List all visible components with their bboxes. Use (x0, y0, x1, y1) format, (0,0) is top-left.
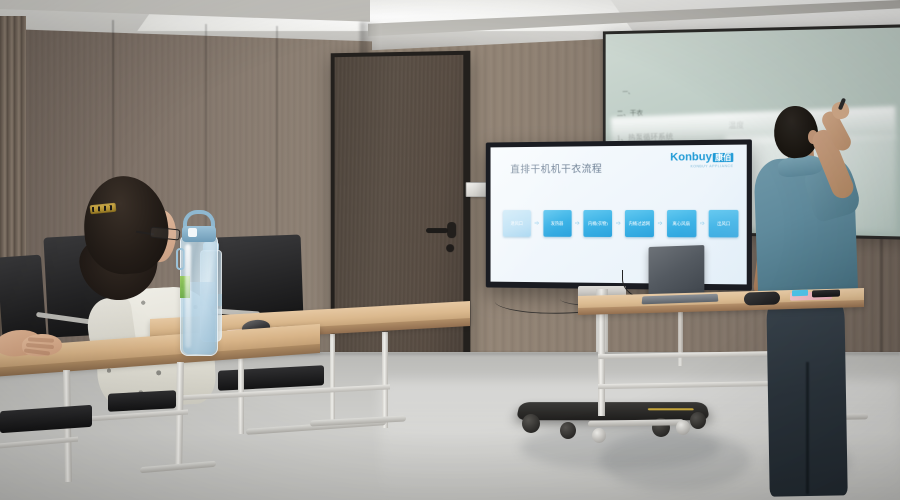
flow-step: 离心风扇 (667, 210, 696, 237)
desk-phone[interactable] (812, 290, 840, 298)
whiteboard-note: 一、 (622, 87, 633, 96)
brand-logo: Konbuy 康佰 KONBUY APPLIANCE (670, 152, 733, 169)
attendee-hands (0, 326, 70, 362)
table-leg (678, 312, 683, 366)
flow-step: 发热器 (543, 210, 571, 237)
door-handle-base (447, 222, 456, 238)
chair-seat[interactable] (108, 390, 176, 412)
presenter-pant-seam (806, 362, 809, 494)
flow-arrow-icon: ➩ (700, 221, 705, 227)
table-leg (598, 310, 605, 416)
desk-object-dark[interactable] (744, 291, 780, 305)
television[interactable]: 直排干机机干衣流程 Konbuy 康佰 KONBUY APPLIANCE 进风口… (486, 139, 752, 290)
flow-step: 内桶过滤网 (625, 210, 654, 237)
door-lock-icon[interactable] (446, 244, 454, 252)
caster-wheel (690, 412, 706, 429)
floor-reflection (600, 430, 750, 490)
caster-wheel (560, 422, 576, 439)
caster-wheel (592, 428, 606, 443)
flow-arrow-icon: ➩ (534, 221, 539, 227)
desk-object-blue[interactable] (792, 290, 808, 297)
process-flow-diagram: 进风口 ➩ 发热器 ➩ 内桶(衣物) ➩ 内桶过滤网 ➩ 离心风扇 ➩ 出风口 (503, 210, 739, 238)
flow-arrow-icon: ➩ (616, 221, 621, 227)
attendee-hair (81, 173, 172, 277)
meeting-room-photo: 一、 二、干衣 1、热泵循环系统 2、内循环 3、排湿、冷凝 温度 直排干机机干… (0, 0, 900, 500)
tv-stand-base (516, 402, 710, 420)
tv-screen[interactable]: 直排干机机干衣流程 Konbuy 康佰 KONBUY APPLIANCE 进风口… (491, 145, 747, 285)
caster-wheel (676, 420, 690, 435)
flow-step: 内桶(衣物) (584, 210, 613, 237)
bottle-clip[interactable] (176, 248, 185, 270)
flow-arrow-icon: ➩ (575, 221, 580, 227)
bottle-spout[interactable] (188, 228, 197, 237)
table-leg (382, 332, 388, 428)
logo-badge: 康佰 (713, 152, 734, 162)
table-leg (330, 334, 335, 422)
caster-wheel (522, 414, 540, 433)
logo-tagline: KONBUY APPLIANCE (690, 164, 733, 168)
bottle-highlight (185, 244, 191, 348)
flow-step: 出风口 (709, 210, 739, 238)
flow-arrow-icon: ➩ (658, 221, 663, 227)
tv-stand-stripe (648, 408, 694, 410)
logo-wordmark: Konbuy (670, 152, 712, 164)
flow-step: 进风口 (503, 210, 531, 237)
slide-title: 直排干机机干衣流程 (510, 160, 602, 176)
door-handle-icon[interactable] (426, 228, 448, 233)
